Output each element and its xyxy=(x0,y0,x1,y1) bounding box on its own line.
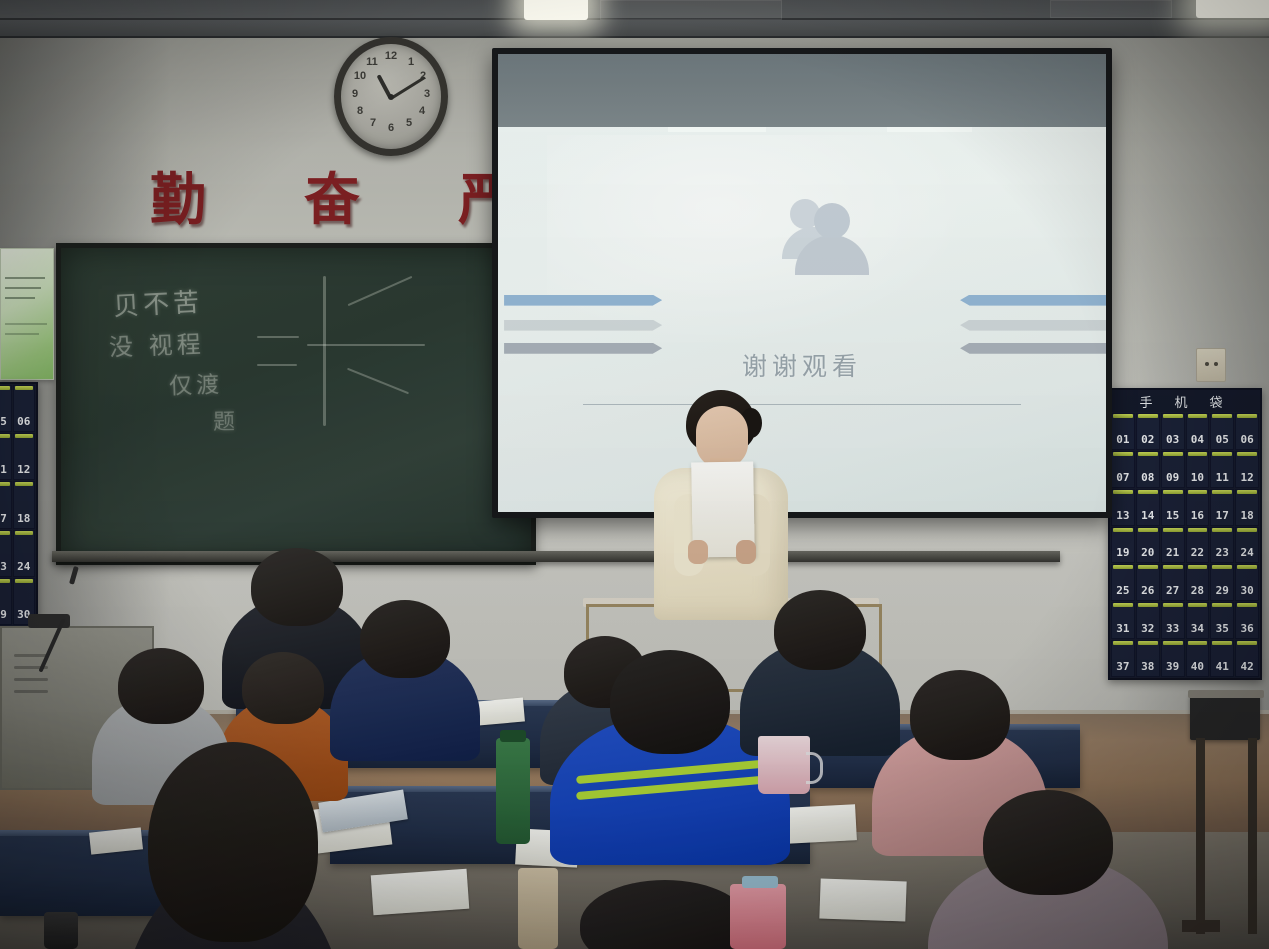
pocket-cell: 17 xyxy=(0,481,12,528)
pocket-cell: 37 xyxy=(1111,640,1135,677)
chalk-sketch xyxy=(347,368,409,395)
pink-bottle-cap xyxy=(742,876,778,888)
camera-tripod-leg xyxy=(1248,738,1257,934)
projection-screen: 谢谢观看 xyxy=(492,48,1112,518)
clock-numeral: 11 xyxy=(365,56,379,68)
pocket-cell: 09 xyxy=(1161,451,1185,488)
pink-bottle xyxy=(730,884,786,949)
presentation-slide: 谢谢观看 xyxy=(498,127,1106,512)
student-head xyxy=(910,670,1010,760)
pocket-cell: 26 xyxy=(1136,564,1160,601)
chalk-sketch xyxy=(323,276,326,426)
pocket-cell: 18 xyxy=(1235,489,1259,526)
pocket-cell: 06 xyxy=(1235,413,1259,450)
slide-title: 谢谢观看 xyxy=(498,347,1106,383)
slide-ribbon-blue-right xyxy=(960,295,1106,306)
pocket-cell: 28 xyxy=(1186,564,1210,601)
pocket-cell: 13 xyxy=(1111,489,1135,526)
chalk-text: 贝不苦 xyxy=(112,282,204,324)
pocket-cell: 11 xyxy=(0,433,12,480)
pocket-cell: 38 xyxy=(1136,640,1160,677)
pocket-cell: 23 xyxy=(1210,527,1234,564)
clock-numeral: 12 xyxy=(384,50,398,62)
clock-numeral: 4 xyxy=(415,105,429,117)
slogan-char-2: 奋 xyxy=(304,155,366,236)
pocket-cell: 08 xyxy=(1136,451,1160,488)
pocket-cell: 07 xyxy=(1111,451,1135,488)
pocket-cell: 40 xyxy=(1186,640,1210,677)
student-head xyxy=(118,648,204,724)
paper-sheet xyxy=(785,804,857,844)
pocket-cell: 05 xyxy=(1210,413,1234,450)
ceiling-light xyxy=(524,0,588,20)
pocket-cell: 23 xyxy=(0,530,12,577)
screen-inactive-band xyxy=(498,54,1106,127)
pocket-cell: 20 xyxy=(1136,527,1160,564)
slide-ribbon-faint-left xyxy=(504,320,662,331)
power-outlet xyxy=(1196,348,1226,382)
clock-numeral: 10 xyxy=(353,70,367,82)
projector-glare xyxy=(547,135,973,347)
pocket-cell: 22 xyxy=(1186,527,1210,564)
presenting-student xyxy=(648,390,794,620)
chalk-sketch xyxy=(257,364,297,366)
pocket-cell: 27 xyxy=(1161,564,1185,601)
chalk-sketch xyxy=(348,276,413,306)
pocket-cell: 34 xyxy=(1186,602,1210,639)
student-head xyxy=(610,650,730,754)
pocket-cell: 29 xyxy=(1210,564,1234,601)
pocket-cell: 42 xyxy=(1235,640,1259,677)
classroom-photo: 勤 奋 严 谨 12 1 2 3 4 5 6 7 8 9 10 11 贝不苦 没… xyxy=(0,0,1269,949)
pink-mug xyxy=(758,736,810,794)
student-head xyxy=(774,590,866,670)
student-head xyxy=(148,742,318,942)
pocket-cell: 19 xyxy=(1111,527,1135,564)
slogan-char-1: 勤 xyxy=(150,155,212,236)
pocket-chart-header-char: 袋 xyxy=(1210,392,1231,411)
pocket-cell: 16 xyxy=(1186,489,1210,526)
beige-thermos xyxy=(518,868,558,949)
pocket-chart-header-char: 机 xyxy=(1174,392,1195,411)
pocket-cell: 39 xyxy=(1161,640,1185,677)
chalk-ledge xyxy=(52,551,1060,562)
ceiling-light xyxy=(1196,0,1269,18)
pocket-cell: 03 xyxy=(1161,413,1185,450)
student-head xyxy=(242,652,324,724)
chalk-text: 仅渡 xyxy=(168,365,223,401)
pocket-cell: 25 xyxy=(1111,564,1135,601)
clock-numeral: 9 xyxy=(348,88,362,100)
camera-tripod-foot xyxy=(1182,920,1220,932)
blackboard: 贝不苦 没 视程 仅渡 题 xyxy=(56,243,536,565)
screen-surface: 谢谢观看 xyxy=(498,54,1106,512)
pocket-cell: 05 xyxy=(0,385,12,432)
wall-clock: 12 1 2 3 4 5 6 7 8 9 10 11 xyxy=(334,37,448,156)
bottle-cap xyxy=(500,730,526,742)
paper-sheet xyxy=(371,869,470,916)
pocket-cell: 31 xyxy=(1111,602,1135,639)
ceiling-panel xyxy=(1050,0,1172,18)
clock-numeral: 3 xyxy=(420,88,434,100)
pocket-cell: 35 xyxy=(1210,602,1234,639)
clock-numeral: 8 xyxy=(353,105,367,117)
chalk-sketch xyxy=(257,336,299,338)
clock-numeral: 6 xyxy=(384,122,398,134)
camera-tripod-head xyxy=(1190,694,1260,740)
pocket-cell: 04 xyxy=(1186,413,1210,450)
mug-handle xyxy=(806,752,823,784)
chalk-text: 没 视程 xyxy=(108,324,205,362)
pocket-cell: 17 xyxy=(1210,489,1234,526)
pocket-cell: 24 xyxy=(13,530,36,577)
pocket-cell: 33 xyxy=(1161,602,1185,639)
phone-pocket-chart-right: 手 机 袋 0102030405060708091011121314151617… xyxy=(1108,388,1262,680)
pocket-cell: 06 xyxy=(13,385,36,432)
ceiling-panel xyxy=(600,0,782,20)
pocket-cell: 12 xyxy=(13,433,36,480)
pocket-cell: 02 xyxy=(1136,413,1160,450)
pocket-chart-header-char: 手 xyxy=(1139,392,1160,411)
wall-poster xyxy=(0,248,54,380)
clock-numeral: 1 xyxy=(404,56,418,68)
dark-bottle xyxy=(44,912,78,949)
camera-tripod-plate xyxy=(1188,690,1264,698)
camera-tripod-leg xyxy=(1196,738,1205,934)
chalk-text: 题 xyxy=(213,404,240,436)
student-head xyxy=(983,790,1113,895)
slide-ribbon-faint-right xyxy=(960,320,1106,331)
clock-numeral: 7 xyxy=(366,117,380,129)
slide-ribbon-blue-left xyxy=(504,295,662,306)
pocket-cell: 01 xyxy=(1111,413,1135,450)
pocket-cell: 32 xyxy=(1136,602,1160,639)
presenter-hand-left xyxy=(688,540,708,564)
student-head xyxy=(360,600,450,678)
clock-center-pin xyxy=(388,94,394,100)
clock-numeral: 5 xyxy=(402,117,416,129)
pocket-cell: 15 xyxy=(1161,489,1185,526)
chalk-sketch xyxy=(307,344,425,346)
pocket-cell: 14 xyxy=(1136,489,1160,526)
pocket-cell: 30 xyxy=(1235,564,1259,601)
paper-sheet xyxy=(819,879,906,922)
pocket-cell: 24 xyxy=(1235,527,1259,564)
student-head xyxy=(251,548,343,626)
pocket-cell: 11 xyxy=(1210,451,1234,488)
presenter-hand-right xyxy=(736,540,756,564)
pocket-cell: 29 xyxy=(0,578,12,625)
pocket-cell: 36 xyxy=(1235,602,1259,639)
green-water-bottle xyxy=(496,738,530,844)
pocket-chart-header: 手 机 袋 xyxy=(1110,390,1260,412)
pocket-cell: 41 xyxy=(1210,640,1234,677)
pocket-cell: 12 xyxy=(1235,451,1259,488)
pocket-cell: 21 xyxy=(1161,527,1185,564)
pocket-cell: 10 xyxy=(1186,451,1210,488)
pocket-cell: 18 xyxy=(13,481,36,528)
